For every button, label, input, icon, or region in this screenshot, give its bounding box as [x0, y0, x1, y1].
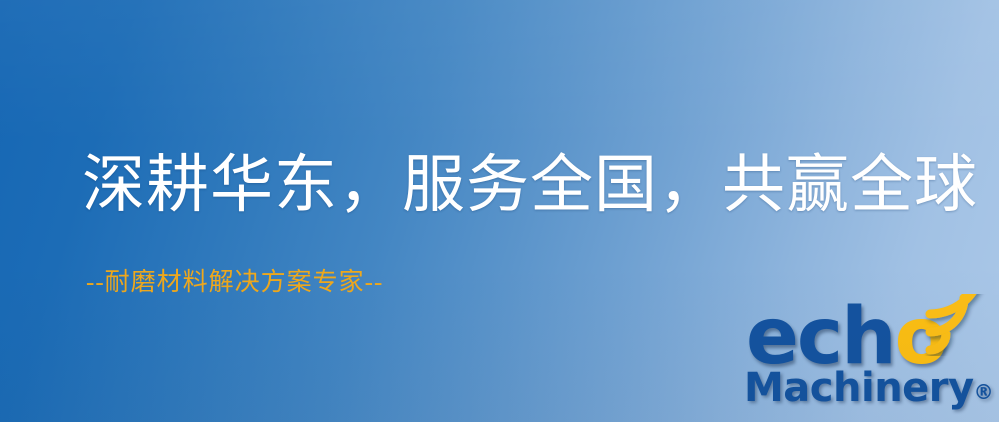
logo-wordmark: echo	[742, 296, 994, 376]
banner-headline: 深耕华东，服务全国，共赢全球	[82, 152, 978, 218]
logo-tagline: Machinery®	[744, 366, 994, 414]
banner-subtitle: --耐磨材料解决方案专家--	[86, 268, 383, 298]
hero-banner: 深耕华东，服务全国，共赢全球 --耐磨材料解决方案专家-- echo	[0, 0, 999, 422]
logo-tagline-text: Machinery	[744, 365, 974, 411]
echo-machinery-logo[interactable]: echo Machinery®	[742, 296, 994, 422]
registered-trademark-icon: ®	[974, 380, 994, 404]
signal-waves-icon	[922, 294, 990, 356]
